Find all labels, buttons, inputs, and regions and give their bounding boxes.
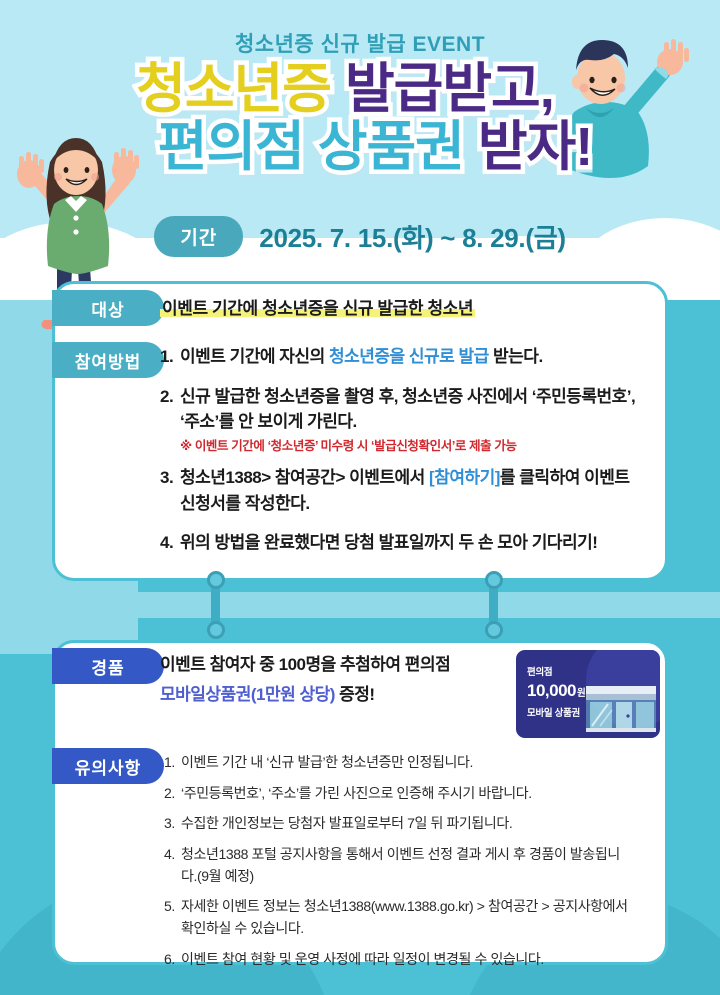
notice-number: 3. xyxy=(164,813,181,835)
step-number: 2. xyxy=(160,384,180,462)
step-text: 위의 방법을 완료했다면 당첨 발표일까지 두 손 모아 기다리기! xyxy=(180,530,638,556)
giftcard-amount: 10,000 xyxy=(527,681,576,700)
step-text-link[interactable]: [참여하기] xyxy=(429,468,500,487)
prize-label-badge: 경품 xyxy=(52,648,164,684)
event-period-row: 기간 2025. 7. 15.(화) ~ 8. 29.(금) xyxy=(0,216,720,257)
giftcard-type: 모바일 상품권 xyxy=(527,705,585,719)
giftcard-image: 편의점 10,000원 모바일 상품권 xyxy=(516,650,660,738)
notice-number: 4. xyxy=(164,844,181,887)
notice-text: 청소년1388 포털 공지사항을 통해서 이벤트 선정 결과 게시 후 경품이 … xyxy=(181,844,634,887)
pin-dot-top xyxy=(485,571,503,589)
prize-line-1: 이벤트 참여자 중 100명을 추첨하여 편의점 xyxy=(160,650,510,680)
notice-item: 1. 이벤트 기간 내 ‘신규 발급’한 청소년증만 인정됩니다. xyxy=(164,752,634,774)
main-title-line-1-part-1: 청소년증 xyxy=(136,59,331,119)
main-title-line-1: 청소년증 발급받고, xyxy=(0,62,720,116)
period-value: 2025. 7. 15.(화) ~ 8. 29.(금) xyxy=(259,218,565,255)
prize-label-text: 경품 xyxy=(91,654,124,679)
notice-number: 5. xyxy=(164,896,181,939)
main-title-line-2-part-1: 편의점 상품권 xyxy=(158,117,464,177)
method-label-text: 참여방법 xyxy=(75,348,142,373)
step-text: 이벤트 기간에 자신의 청소년증을 신규로 발급 받는다. xyxy=(180,344,638,370)
step-text-pre: 이벤트 기간에 자신의 xyxy=(180,347,329,366)
prize-line-2: 모바일상품권(1만원 상당) 증정! xyxy=(160,680,510,710)
method-steps-list: 1. 이벤트 기간에 자신의 청소년증을 신규로 발급 받는다. 2. 신규 발… xyxy=(160,344,638,556)
step-text-pre: 신규 발급한 청소년증을 촬영 후, 청소년증 사진에서 ‘주민등록번호’, ‘… xyxy=(180,387,635,432)
step-text-pre: 청소년1388> 참여공간> 이벤트에서 xyxy=(180,468,429,487)
giftcard-text: 편의점 10,000원 모바일 상품권 xyxy=(527,664,585,719)
step-red-note: ※ 이벤트 기간에 ‘청소년증’ 미수령 시 ‘발급신청확인서’로 제출 가능 xyxy=(180,437,638,456)
convenience-store-icon xyxy=(582,676,656,732)
method-step: 3. 청소년1388> 참여공간> 이벤트에서 [참여하기]를 클릭하여 이벤트… xyxy=(160,465,638,516)
notice-text: 수집한 개인정보는 당첨자 발표일로부터 7일 뒤 파기됩니다. xyxy=(181,813,634,835)
main-title-line-2-part-2: 받자! xyxy=(478,117,592,177)
background-mid-band xyxy=(0,592,720,618)
notice-list: 1. 이벤트 기간 내 ‘신규 발급’한 청소년증만 인정됩니다. 2. ‘주민… xyxy=(164,752,634,971)
notice-text: ‘주민등록번호’, ‘주소’를 가린 사진으로 인증해 주시기 바랍니다. xyxy=(181,783,634,805)
prize-description: 이벤트 참여자 중 100명을 추첨하여 편의점 모바일상품권(1만원 상당) … xyxy=(160,650,510,710)
notice-item: 5. 자세한 이벤트 정보는 청소년1388(www.1388.go.kr) >… xyxy=(164,896,634,939)
pin-dot-bottom xyxy=(207,621,225,639)
notice-text: 이벤트 참여 현황 및 운영 사정에 따라 일정이 변경될 수 있습니다. xyxy=(181,949,634,971)
target-label-text: 대상 xyxy=(91,296,124,321)
step-text: 신규 발급한 청소년증을 촬영 후, 청소년증 사진에서 ‘주민등록번호’, ‘… xyxy=(180,384,638,462)
method-step: 1. 이벤트 기간에 자신의 청소년증을 신규로 발급 받는다. xyxy=(160,344,638,370)
target-label-badge: 대상 xyxy=(52,290,164,326)
connector-pin-left xyxy=(211,578,220,632)
notice-number: 6. xyxy=(164,949,181,971)
notice-text: 자세한 이벤트 정보는 청소년1388(www.1388.go.kr) > 참여… xyxy=(181,896,634,939)
pin-dot-bottom xyxy=(485,621,503,639)
giftcard-brand: 편의점 xyxy=(527,664,585,678)
method-label-badge: 참여방법 xyxy=(52,342,164,378)
notice-item: 3. 수집한 개인정보는 당첨자 발표일로부터 7일 뒤 파기됩니다. xyxy=(164,813,634,835)
step-text-post: 받는다. xyxy=(489,347,543,366)
main-title-line-1-part-2: 발급받고, xyxy=(345,59,554,119)
prize-line-2-post: 증정! xyxy=(335,685,375,704)
event-poster: 청소년증 신규 발급 EVENT 청소년증 발급받고, 편의점 상품권 받자! … xyxy=(0,0,720,995)
giftcard-amount-row: 10,000원 xyxy=(527,681,585,701)
notice-text: 이벤트 기간 내 ‘신규 발급’한 청소년증만 인정됩니다. xyxy=(181,752,634,774)
main-title-line-2: 편의점 상품권 받자! xyxy=(30,120,720,174)
period-badge: 기간 xyxy=(154,216,243,257)
main-title: 청소년증 발급받고, 편의점 상품권 받자! xyxy=(0,62,720,174)
method-step: 4. 위의 방법을 완료했다면 당첨 발표일까지 두 손 모아 기다리기! xyxy=(160,530,638,556)
notice-item: 4. 청소년1388 포털 공지사항을 통해서 이벤트 선정 결과 게시 후 경… xyxy=(164,844,634,887)
target-description-text: 이벤트 기간에 청소년증을 신규 발급한 청소년 xyxy=(160,299,475,318)
notice-label-text: 유의사항 xyxy=(75,754,142,779)
step-text-emphasis: 청소년증을 신규로 발급 xyxy=(329,347,489,366)
step-number: 4. xyxy=(160,530,180,556)
notice-item: 6. 이벤트 참여 현황 및 운영 사정에 따라 일정이 변경될 수 있습니다. xyxy=(164,949,634,971)
event-eyebrow-title: 청소년증 신규 발급 EVENT xyxy=(0,28,720,58)
method-step: 2. 신규 발급한 청소년증을 촬영 후, 청소년증 사진에서 ‘주민등록번호’… xyxy=(160,384,638,462)
notice-number: 2. xyxy=(164,783,181,805)
target-description: 이벤트 기간에 청소년증을 신규 발급한 청소년 xyxy=(160,296,630,322)
step-text: 청소년1388> 참여공간> 이벤트에서 [참여하기]를 클릭하여 이벤트 신청… xyxy=(180,465,638,516)
notice-label-badge: 유의사항 xyxy=(52,748,164,784)
notice-number: 1. xyxy=(164,752,181,774)
notice-item: 2. ‘주민등록번호’, ‘주소’를 가린 사진으로 인증해 주시기 바랍니다. xyxy=(164,783,634,805)
connector-pin-right xyxy=(489,578,498,632)
prize-line-2-emphasis: 모바일상품권(1만원 상당) xyxy=(160,685,335,704)
step-number: 3. xyxy=(160,465,180,516)
step-number: 1. xyxy=(160,344,180,370)
pin-dot-top xyxy=(207,571,225,589)
